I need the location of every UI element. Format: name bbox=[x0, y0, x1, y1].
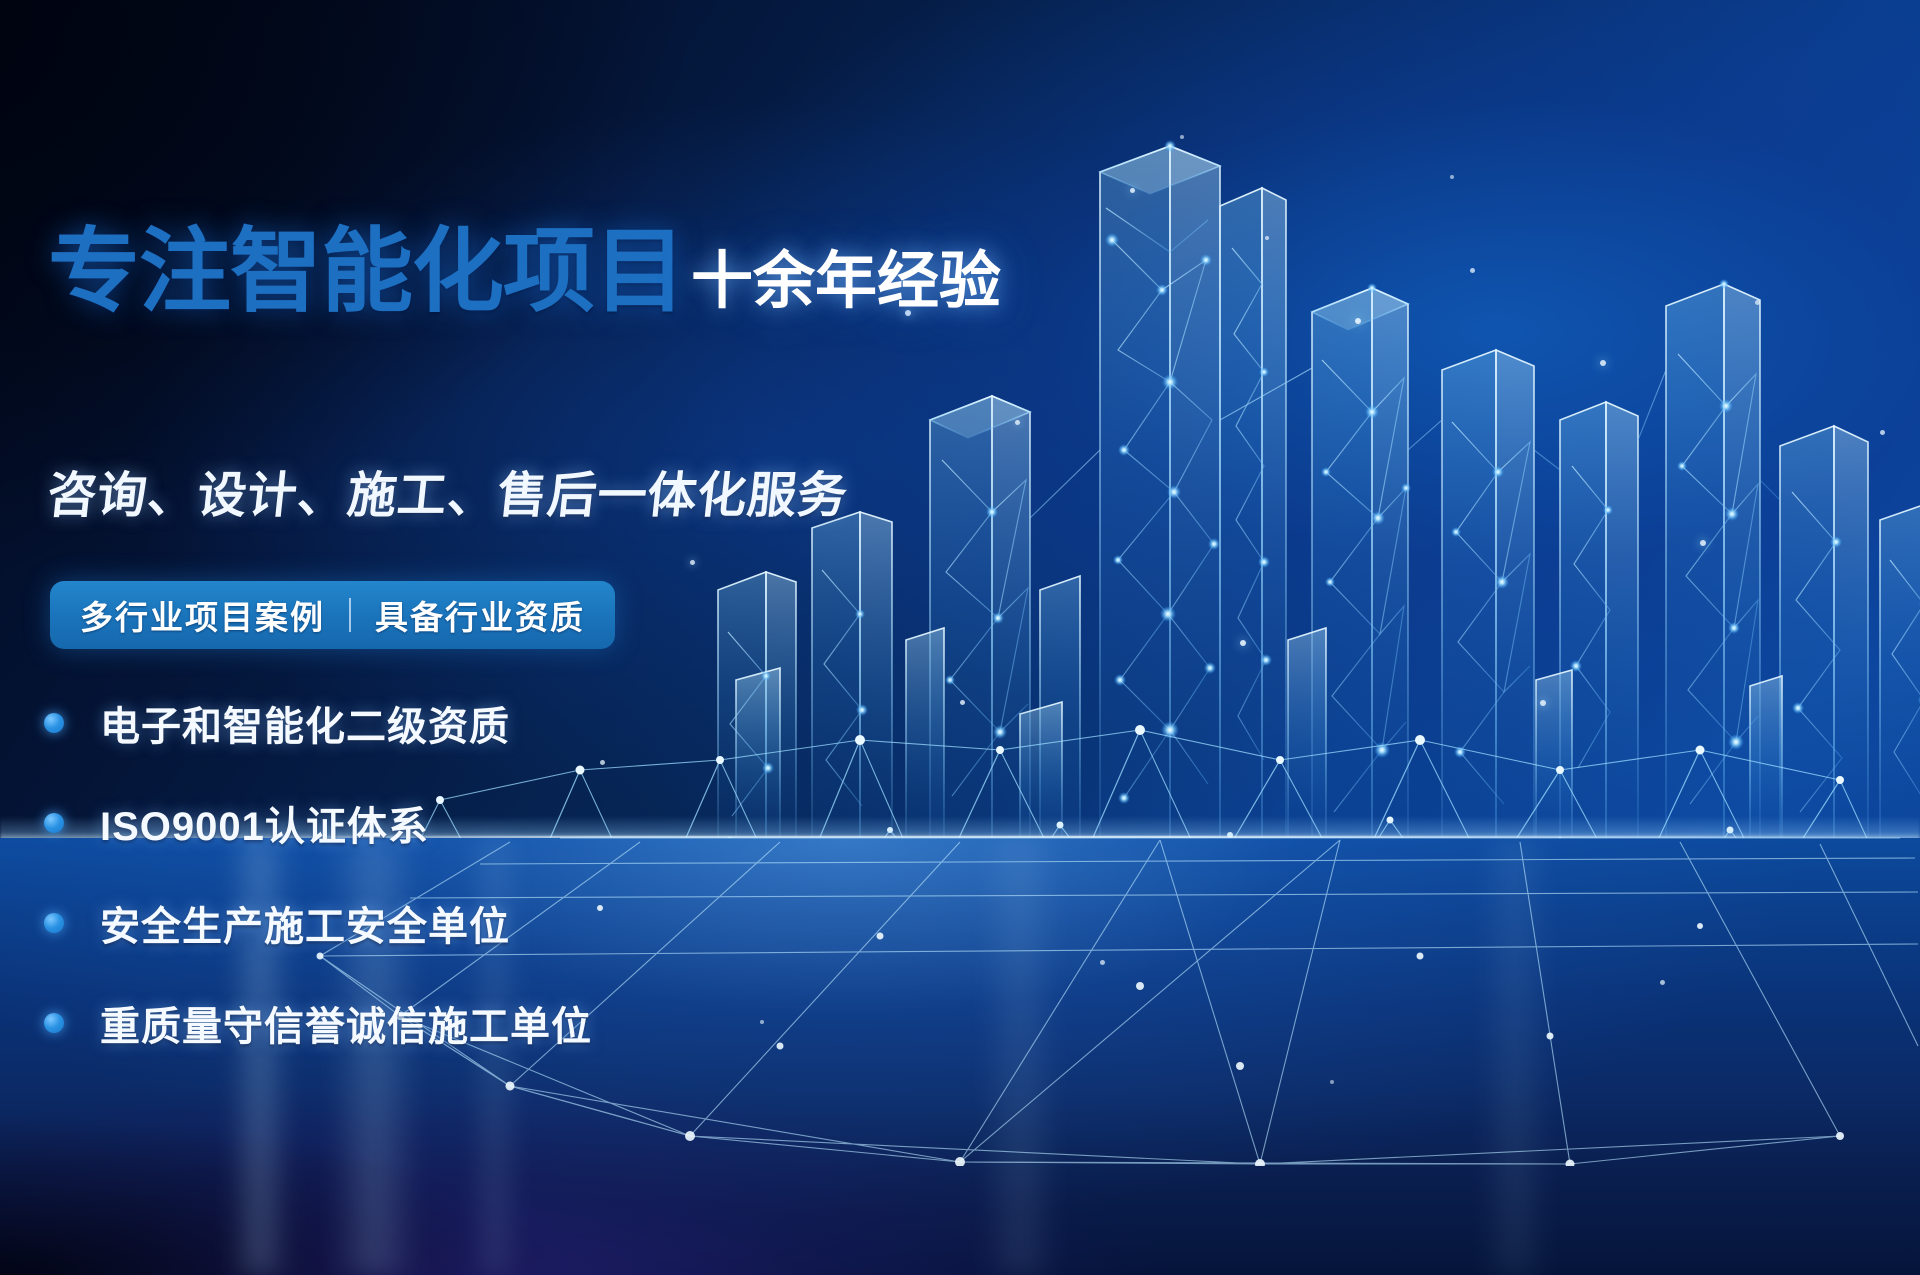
bullet-dot-icon bbox=[44, 813, 64, 833]
banner-content: 专注智能化项目 十余年经验 咨询、设计、施工、售后一体化服务 多行业项目案例 具… bbox=[0, 0, 900, 1275]
bullet-dot-icon bbox=[44, 713, 64, 733]
bullet-dot-icon bbox=[44, 1013, 64, 1033]
list-item: 电子和智能化二级资质 bbox=[44, 690, 592, 756]
tagline: 咨询、设计、施工、售后一体化服务 bbox=[44, 456, 851, 527]
headline-main: 专注智能化项目 bbox=[48, 226, 685, 318]
headline: 专注智能化项目 十余年经验 bbox=[48, 226, 1001, 318]
highlight-pill: 多行业项目案例 具备行业资质 bbox=[50, 581, 615, 649]
list-item: 重质量守信誉诚信施工单位 bbox=[44, 990, 592, 1056]
headline-accent: 十余年经验 bbox=[685, 251, 1001, 318]
list-item-label: 重质量守信誉诚信施工单位 bbox=[100, 994, 592, 1052]
list-item-label: 电子和智能化二级资质 bbox=[100, 694, 510, 752]
pill-label-left: 多行业项目案例 bbox=[80, 591, 325, 639]
list-item: ISO9001认证体系 bbox=[44, 790, 592, 856]
credentials-list: 电子和智能化二级资质 ISO9001认证体系 安全生产施工安全单位 重质量守信誉… bbox=[44, 690, 592, 1090]
bullet-dot-icon bbox=[44, 913, 64, 933]
pill-label-right: 具备行业资质 bbox=[375, 591, 585, 639]
list-item-label: ISO9001认证体系 bbox=[100, 794, 429, 852]
pill-divider-icon bbox=[349, 598, 351, 632]
list-item: 安全生产施工安全单位 bbox=[44, 890, 592, 956]
list-item-label: 安全生产施工安全单位 bbox=[100, 894, 510, 952]
promotional-banner: 专注智能化项目 十余年经验 咨询、设计、施工、售后一体化服务 多行业项目案例 具… bbox=[0, 0, 1920, 1275]
